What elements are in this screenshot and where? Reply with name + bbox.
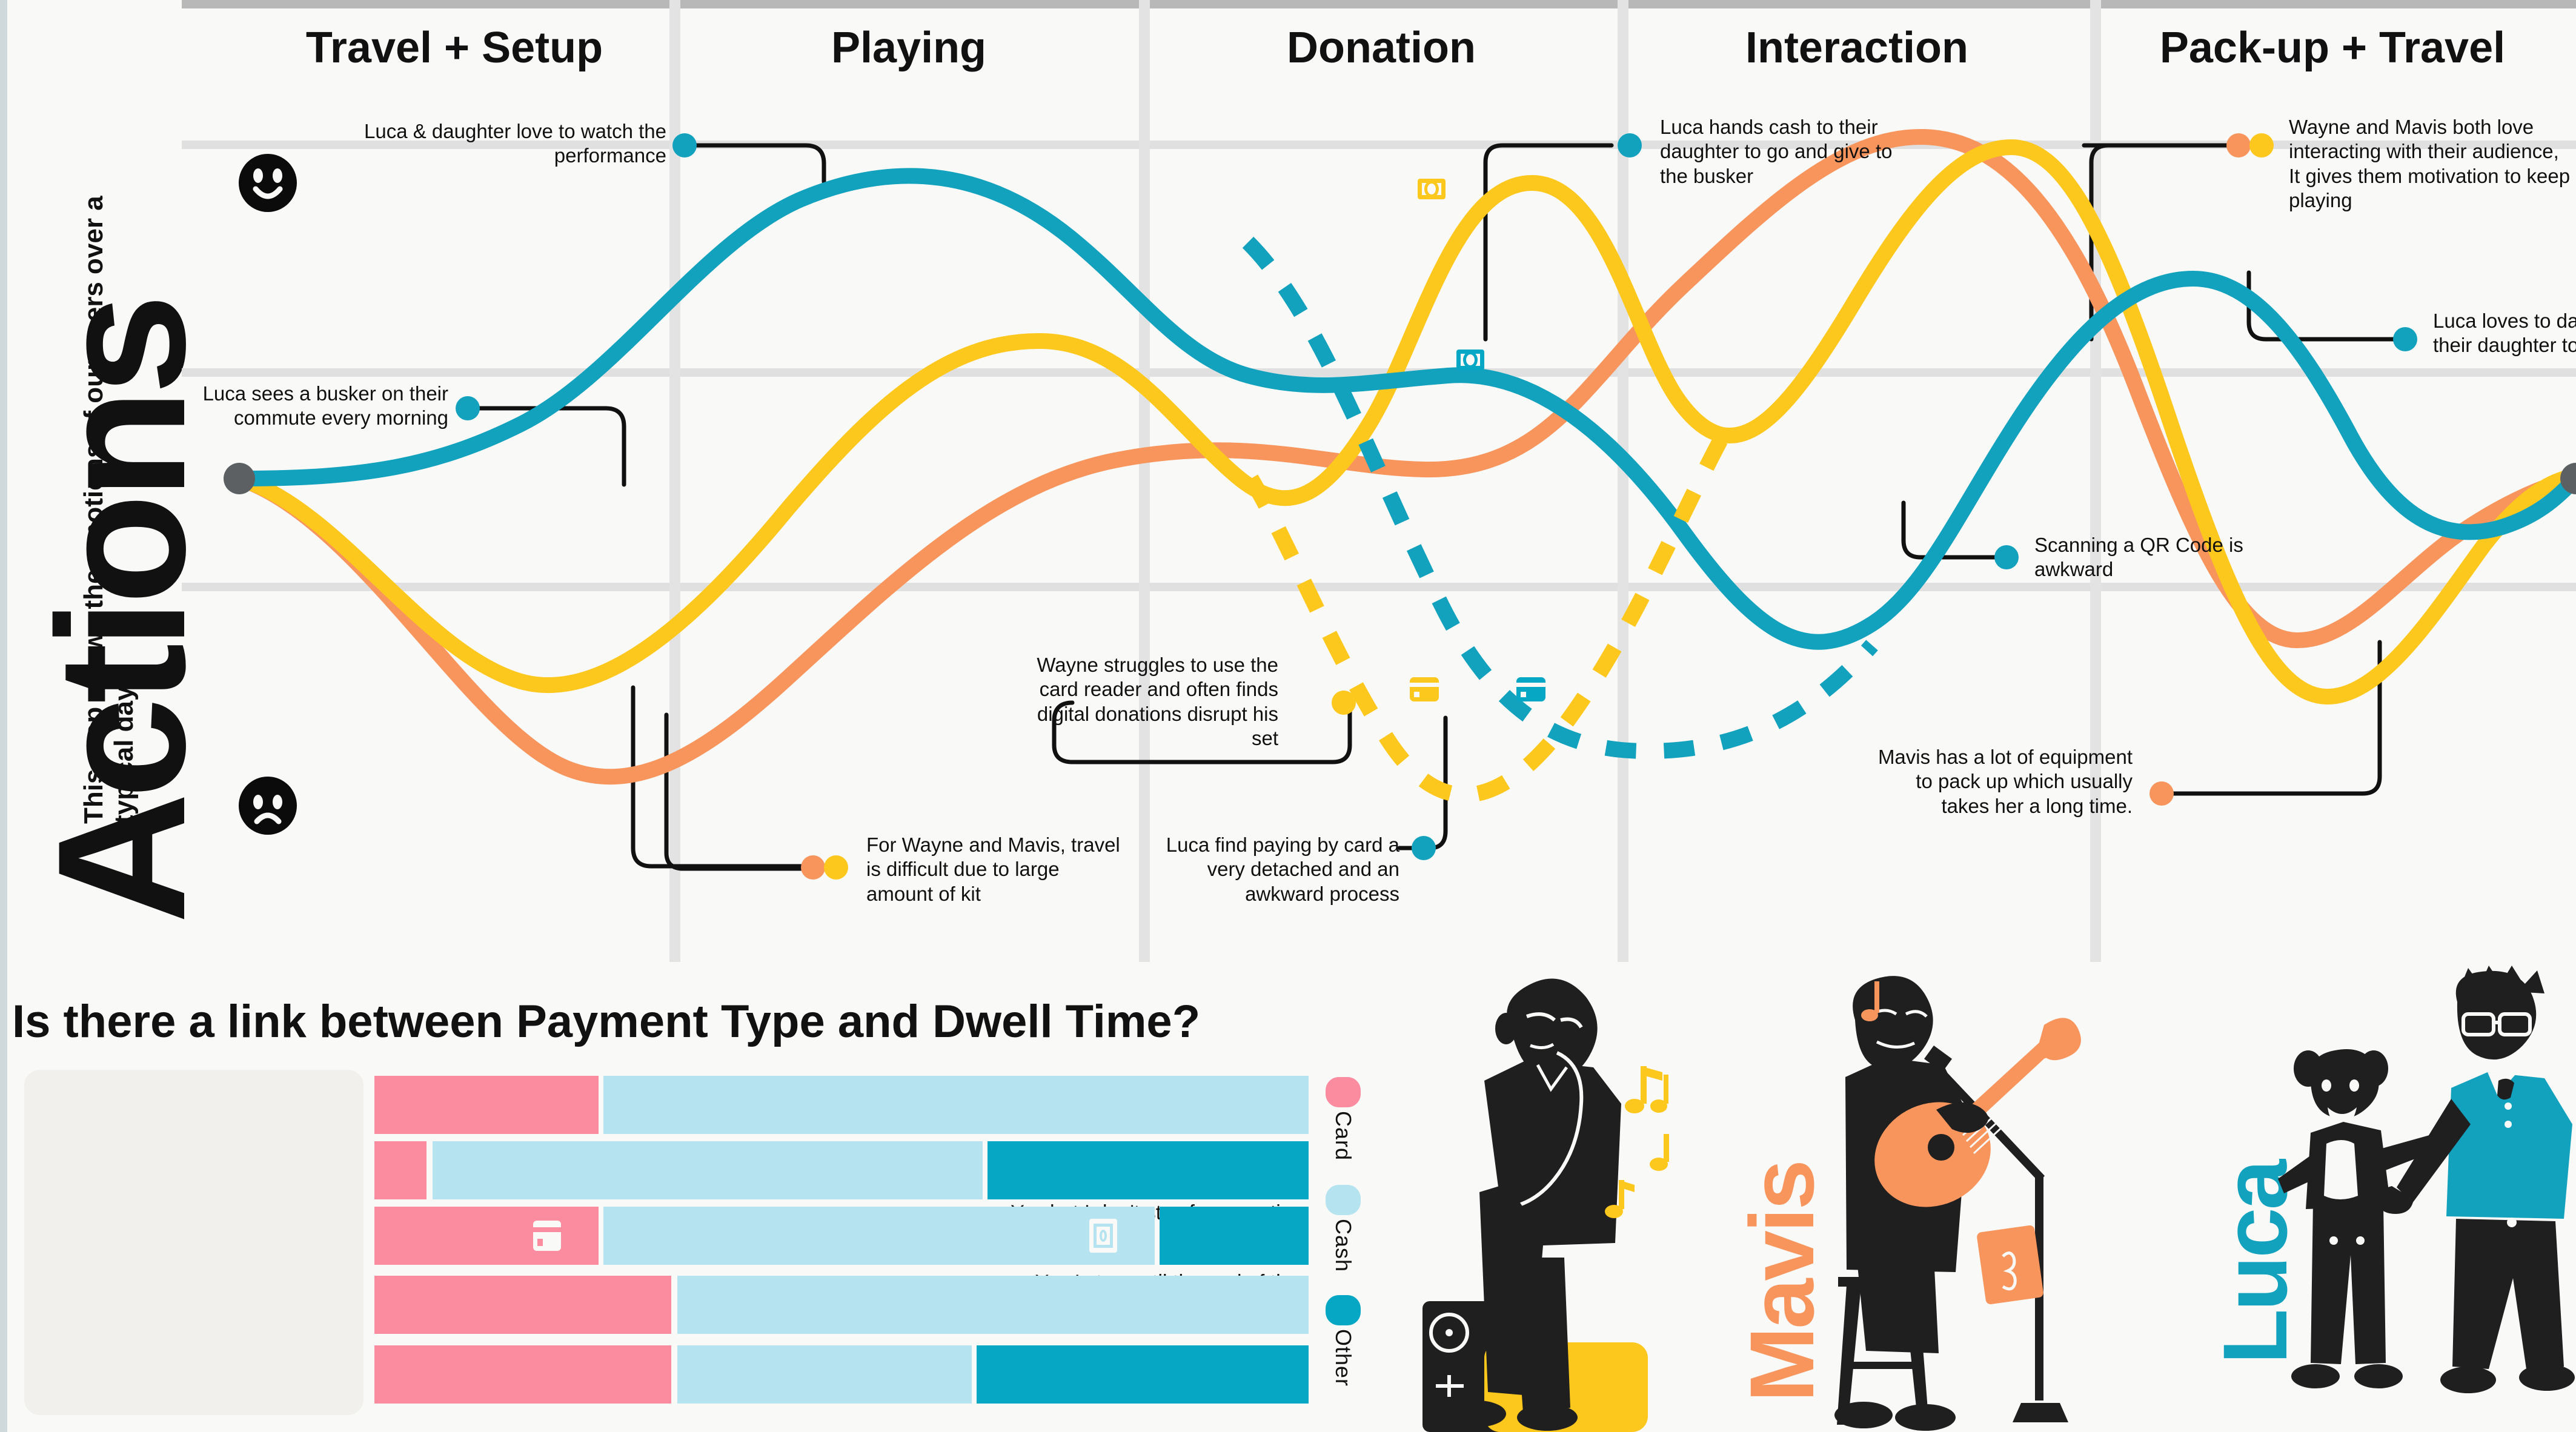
annotation-qr-code: Scanning a QR Code is awkward — [2034, 533, 2277, 582]
legend-item-other[interactable]: Other — [1321, 1295, 1387, 1387]
curve-luca-teal-dashed — [1248, 242, 1872, 751]
bar-segment-other-1[interactable] — [988, 1141, 1309, 1199]
bar-segment-other-4[interactable] — [977, 1345, 1309, 1404]
bar-row-0[interactable] — [374, 1076, 1309, 1134]
bar-group — [374, 1070, 1309, 1415]
annotation-card-reader: Wayne struggles to use the card reader a… — [1036, 653, 1278, 751]
bar-segment-cash-4[interactable] — [677, 1345, 972, 1404]
annotation-dot-luca-card — [1412, 836, 1436, 860]
banknote-icon-teal — [1456, 350, 1484, 370]
annotation-dot-qr-code — [1994, 545, 2019, 569]
legend-item-cash[interactable]: Cash — [1321, 1185, 1387, 1272]
section-title: Is there a link between Payment Type and… — [12, 995, 1200, 1048]
bar-segment-card-2[interactable] — [374, 1207, 599, 1265]
leader-luca-cash — [1486, 145, 1612, 339]
wayne-saxophonist-illustration — [1393, 962, 1708, 1432]
banknote-icon-white — [1089, 1219, 1117, 1253]
annotation-luca-cash: Luca hands cash to their daughter to go … — [1660, 115, 1914, 188]
banknote-icon-yellow — [1418, 179, 1446, 199]
annotation-dot-wm-orange — [2226, 133, 2251, 157]
annotation-luca-card: Luca find paying by card a very detached… — [1145, 833, 1399, 906]
annotation-travel-kit: For Wayne and Mavis, travel is difficult… — [866, 833, 1127, 906]
annotation-luca-busker: Luca sees a busker on their commute ever… — [200, 382, 448, 431]
bar-segment-cash-0[interactable] — [603, 1076, 1309, 1134]
legend-label-card: Card — [1330, 1111, 1356, 1161]
bar-row-3[interactable] — [374, 1276, 1309, 1334]
bottom-left-edge-accent-bar — [0, 962, 7, 1432]
annotation-dot-luca-cash — [1618, 133, 1642, 157]
category-label-panel — [24, 1070, 363, 1415]
journey-map-infographic: Actions This map shows the emotions of o… — [0, 0, 2576, 1432]
dwell-time-chart: No I don't. No I won't stop but I will l… — [24, 1070, 1309, 1415]
leader-travel-kit-a — [633, 688, 812, 866]
legend-swatch-card — [1326, 1077, 1361, 1107]
leader-luca-dance — [2249, 273, 2396, 339]
bar-segment-cash-3[interactable] — [677, 1276, 1309, 1334]
annotation-luca-watch: Luca & daughter love to watch the perfor… — [363, 119, 666, 168]
page-subtitle: This map shows the emotions of our users… — [79, 157, 139, 824]
annotation-dot-travel-kit-orange — [801, 855, 825, 880]
leader-luca-watch — [683, 145, 824, 182]
annotation-mavis-packup: Mavis has a lot of equipment to pack up … — [1872, 745, 2133, 818]
annotation-dot-luca-dance — [2393, 327, 2417, 351]
curve-mavis-yellow — [239, 147, 2576, 697]
vertical-title-block: Actions This map shows the emotions of o… — [6, 0, 188, 957]
legend-swatch-cash — [1326, 1185, 1361, 1215]
bar-segment-other-2[interactable] — [1160, 1207, 1309, 1265]
chart-legend: Card Cash Other — [1321, 1070, 1387, 1415]
annotation-dot-mavis-packup — [2149, 781, 2174, 806]
luca-and-daughter-illustration — [2278, 962, 2576, 1432]
dwell-time-section: Is there a link between Payment Type and… — [0, 962, 2576, 1432]
legend-label-cash: Cash — [1330, 1219, 1356, 1272]
bar-row-4[interactable] — [374, 1345, 1309, 1404]
curve-start-dot — [224, 463, 255, 494]
bar-segment-card-0[interactable] — [374, 1076, 599, 1134]
annotation-luca-dance: Luca loves to dance with their daughter … — [2433, 309, 2576, 358]
annotation-dot-card-reader — [1332, 691, 1356, 715]
bar-row-2[interactable] — [374, 1207, 1309, 1265]
bar-segment-cash-2[interactable] — [603, 1207, 1155, 1265]
bar-segment-cash-1[interactable] — [433, 1141, 983, 1199]
legend-swatch-other — [1326, 1295, 1361, 1325]
legend-item-card[interactable]: Card — [1321, 1077, 1387, 1161]
annotation-dot-travel-kit-yellow — [824, 855, 848, 880]
annotation-dot-wm-yellow — [2249, 133, 2274, 157]
card-icon-white — [533, 1221, 561, 1251]
legend-label-other: Other — [1330, 1329, 1356, 1387]
card-icon-teal — [1516, 677, 1545, 701]
bar-segment-card-1[interactable] — [374, 1141, 427, 1199]
leader-travel-kit-b — [666, 715, 812, 869]
emotion-journey-map: Travel + Setup Playing Donation Interact… — [182, 0, 2576, 962]
bar-segment-card-4[interactable] — [374, 1345, 671, 1404]
annotation-wayne-mavis-interaction: Wayne and Mavis both love interacting wi… — [2289, 115, 2574, 213]
bar-segment-card-3[interactable] — [374, 1276, 671, 1334]
mavis-guitarist-illustration — [1817, 962, 2193, 1432]
annotation-dot-luca-busker — [456, 396, 480, 420]
bar-row-1[interactable] — [374, 1141, 1309, 1199]
annotation-dot-luca-watch — [672, 133, 697, 157]
card-icon-yellow — [1410, 677, 1439, 701]
